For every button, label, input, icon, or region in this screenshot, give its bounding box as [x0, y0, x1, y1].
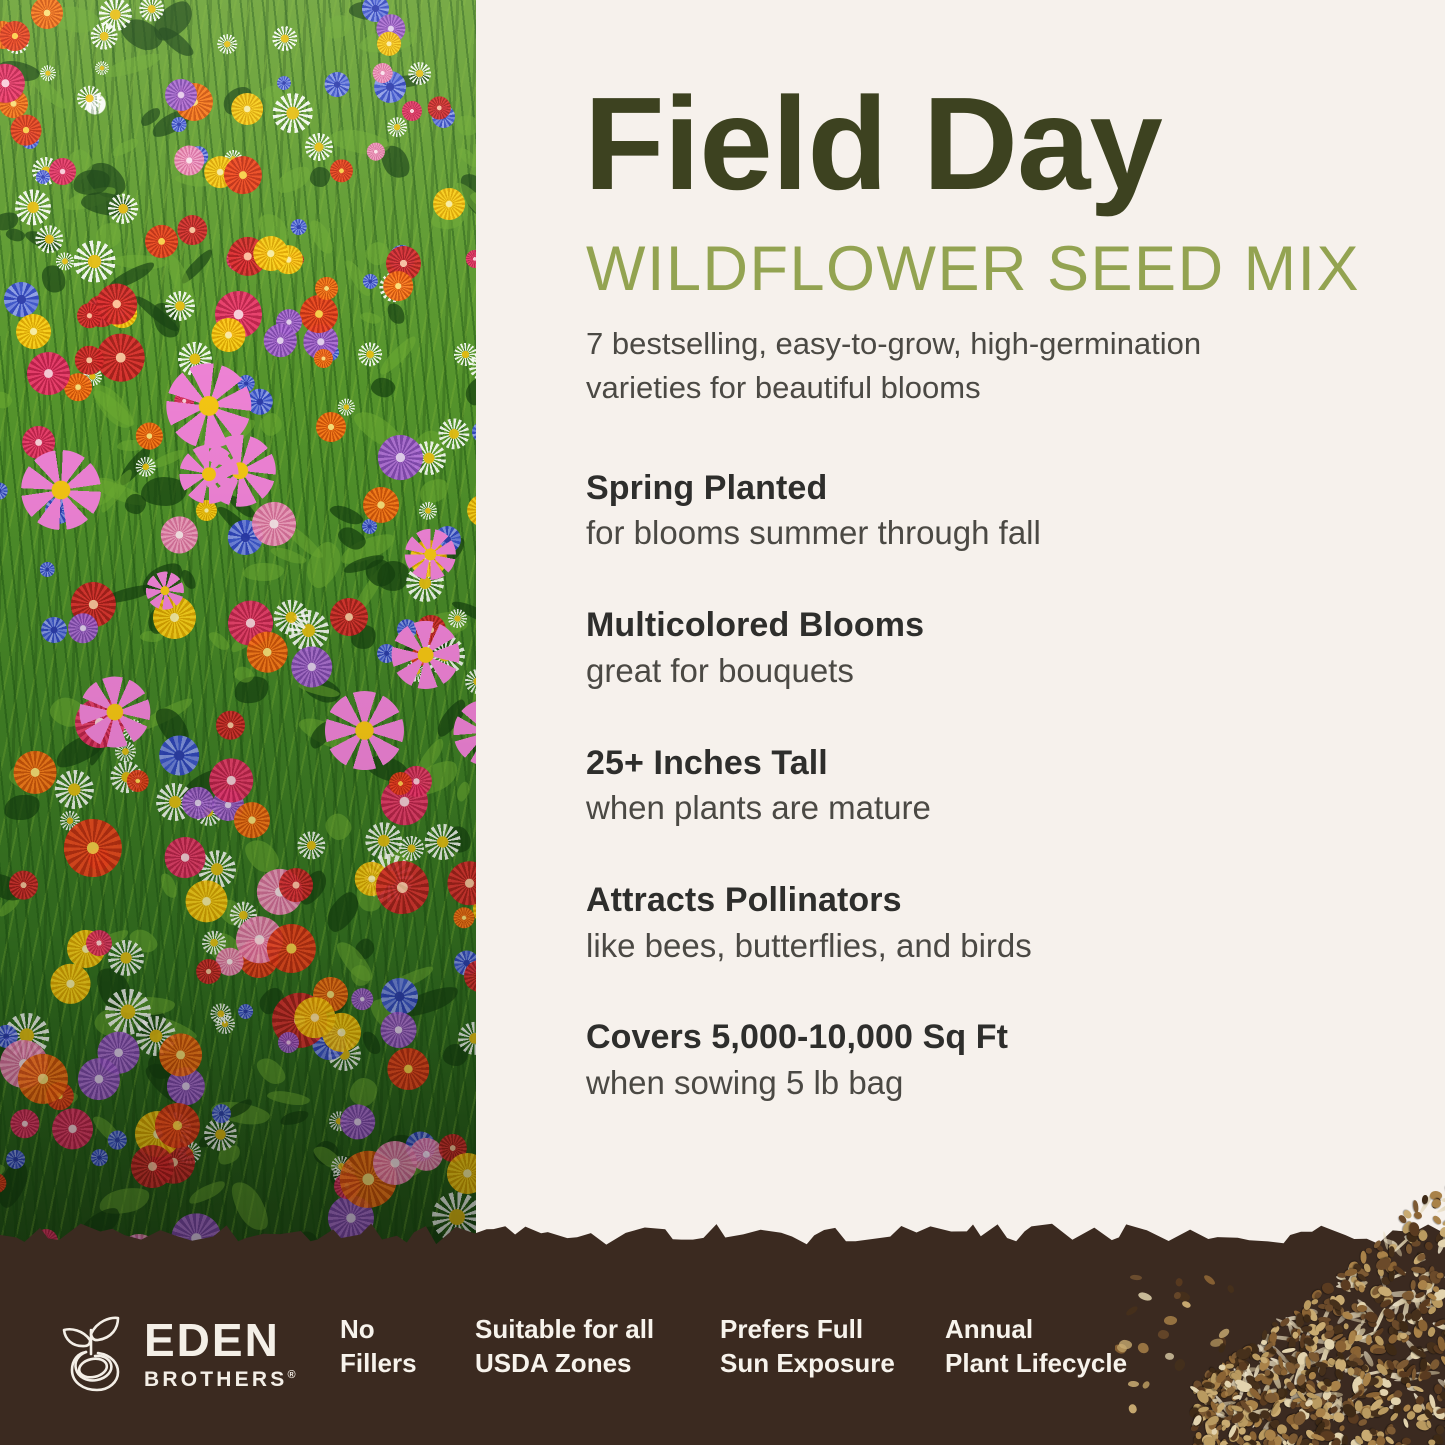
feature-list: Spring Planted for blooms summer through… — [586, 468, 1346, 1105]
logo-brothers-text: BROTHERS® — [144, 1369, 299, 1390]
product-lede: 7 bestselling, easy-to-grow, high-germin… — [586, 322, 1316, 410]
feature-item: Spring Planted for blooms summer through… — [586, 468, 1346, 555]
badge-no-fillers: NoFillers — [340, 1313, 417, 1381]
badge-usda-zones: Suitable for allUSDA Zones — [475, 1313, 654, 1381]
product-infographic: Field Day WILDFLOWER SEED MIX 7 bestsell… — [0, 0, 1445, 1445]
feature-title: 25+ Inches Tall — [586, 743, 1346, 784]
logo-eden-text: EDEN — [144, 1317, 299, 1363]
product-subtitle: WILDFLOWER SEED MIX — [586, 238, 1386, 301]
feature-item: Covers 5,000-10,000 Sq Ft when sowing 5 … — [586, 1017, 1346, 1104]
feature-title: Covers 5,000-10,000 Sq Ft — [586, 1017, 1346, 1058]
eden-brothers-logo[interactable]: EDEN BROTHERS® — [52, 1303, 302, 1403]
wildflower-meadow-photo — [0, 0, 476, 1300]
feature-title: Spring Planted — [586, 468, 1346, 509]
feature-subtitle: for blooms summer through fall — [586, 512, 1346, 555]
feature-item: 25+ Inches Tall when plants are mature — [586, 743, 1346, 830]
feature-subtitle: like bees, butterflies, and birds — [586, 925, 1346, 968]
feature-item: Multicolored Blooms great for bouquets — [586, 605, 1346, 692]
sprout-seed-icon — [52, 1310, 130, 1396]
product-title: Field Day — [584, 78, 1364, 210]
feature-subtitle: when plants are mature — [586, 787, 1346, 830]
feature-subtitle: great for bouquets — [586, 650, 1346, 693]
feature-title: Attracts Pollinators — [586, 880, 1346, 921]
content-panel: Field Day WILDFLOWER SEED MIX 7 bestsell… — [476, 0, 1445, 1300]
badge-plant-lifecycle: AnnualPlant Lifecycle — [945, 1313, 1127, 1381]
feature-title: Multicolored Blooms — [586, 605, 1346, 646]
footer-badges: NoFillers Suitable for allUSDA Zones Pre… — [340, 1303, 1340, 1399]
logo-wordmark: EDEN BROTHERS® — [144, 1317, 299, 1390]
feature-subtitle: when sowing 5 lb bag — [586, 1062, 1346, 1105]
badge-sun-exposure: Prefers FullSun Exposure — [720, 1313, 895, 1381]
photo-shading — [0, 0, 476, 1300]
feature-item: Attracts Pollinators like bees, butterfl… — [586, 880, 1346, 967]
